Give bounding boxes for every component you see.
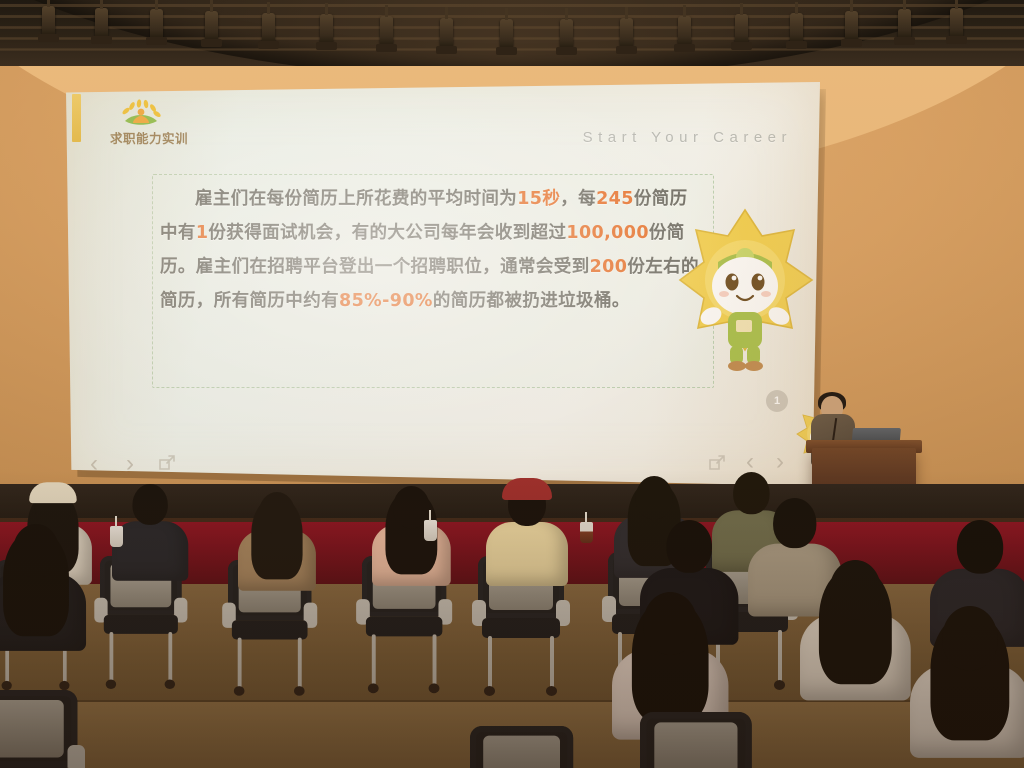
sunburst-person-icon xyxy=(117,99,165,129)
chair-seat xyxy=(232,620,308,639)
person-head xyxy=(13,524,59,578)
person-head xyxy=(636,476,673,519)
stage-light xyxy=(735,14,748,44)
person-head xyxy=(942,606,997,670)
person-head xyxy=(259,492,295,534)
person-head xyxy=(132,484,167,525)
stage-light xyxy=(620,18,633,48)
person-head xyxy=(830,560,881,619)
chair-leg xyxy=(372,634,376,687)
stage-light xyxy=(205,11,218,41)
slide-text-run: 雇主们在每份简历上所花费的平均时间为 xyxy=(195,189,517,209)
chair-foot xyxy=(59,681,69,690)
person-head xyxy=(666,520,712,573)
stage-light xyxy=(440,18,453,48)
person-head xyxy=(773,498,816,548)
drink-cup xyxy=(424,520,437,541)
slide-paragraph: 雇主们在每份简历上所花费的平均时间为15秒，每245份简历中有1份获得面试机会，… xyxy=(160,182,705,318)
chair-leg xyxy=(433,634,437,687)
slide-highlight-value: 100,000 xyxy=(566,223,649,243)
person-body xyxy=(112,521,188,581)
person-head xyxy=(643,592,697,654)
truss-rib xyxy=(0,4,1024,7)
chair-foot xyxy=(429,683,440,693)
chair-mesh xyxy=(654,722,737,768)
ceiling-truss xyxy=(0,0,1024,66)
chair-foot xyxy=(484,686,495,696)
stage-light xyxy=(150,9,163,39)
chair-foot xyxy=(2,681,12,690)
stage-light xyxy=(845,11,858,41)
chair-back xyxy=(640,712,752,768)
person-head xyxy=(957,520,1003,574)
chair-foot xyxy=(774,680,785,690)
stage-light xyxy=(560,19,573,49)
chair-mesh xyxy=(0,700,64,758)
stage-light xyxy=(500,19,513,49)
person-body xyxy=(486,522,568,586)
brand-logo: 求职能力实训 xyxy=(89,99,209,157)
brand-logo-text: 求职能力实训 xyxy=(89,128,209,147)
drink-cup xyxy=(580,522,593,543)
stage-light xyxy=(320,14,333,44)
lecture-hall-scene: 求职能力实训 Start Your Career 雇主们在每份简历上所花费的平均… xyxy=(0,0,1024,768)
chair-seat xyxy=(366,617,442,637)
sunflower-mascot-large xyxy=(670,200,820,380)
chair-leg xyxy=(238,638,242,690)
slide-body-text: 雇主们在每份简历上所花费的平均时间为15秒，每245份简历中有1份获得面试机会，… xyxy=(160,182,705,318)
chair-leg xyxy=(778,630,782,684)
chair-seat xyxy=(482,618,560,638)
slide-text-run: ，每 xyxy=(560,189,596,209)
slide-tagline: Start Your Career xyxy=(583,129,792,146)
stage-light xyxy=(262,13,275,43)
person-hat xyxy=(502,478,552,500)
chair-foot xyxy=(294,686,305,696)
slide-accent-bar xyxy=(72,94,81,142)
stage-light xyxy=(790,13,803,43)
person-hat xyxy=(29,482,76,503)
chair-arm-right xyxy=(68,745,86,768)
slide-highlight-value: 200 xyxy=(590,257,628,277)
stage-light xyxy=(95,8,108,38)
stage-light xyxy=(898,9,911,39)
person-head xyxy=(733,472,769,514)
slide-highlight-value: 1 xyxy=(196,223,209,243)
chair-leg xyxy=(110,632,114,683)
chair-foot xyxy=(546,686,557,696)
slide-text-run: 份获得面试机会，有的大公司每年会收到超过 xyxy=(208,223,566,243)
chair-foot xyxy=(234,686,245,696)
share-icon-right[interactable] xyxy=(708,454,726,477)
chair-leg xyxy=(168,632,172,683)
chair-foot xyxy=(165,680,175,690)
slide-text-run: 的简历都被扔进垃圾桶。 xyxy=(433,291,630,311)
stage-light xyxy=(380,16,393,46)
chair-leg xyxy=(550,636,554,690)
drink-cup xyxy=(110,526,123,547)
chair-mesh xyxy=(483,736,560,768)
slide-next-button-right[interactable]: › xyxy=(776,450,784,474)
chair-leg xyxy=(298,638,302,690)
stage-light xyxy=(42,6,55,36)
chair-foot xyxy=(368,683,379,693)
slide-highlight-value: 85%-90% xyxy=(339,291,433,311)
stage-light xyxy=(950,8,963,38)
chair-seat xyxy=(104,615,178,634)
screen-surface: 求职能力实训 Start Your Career 雇主们在每份简历上所花费的平均… xyxy=(60,82,820,486)
chair-foot xyxy=(106,680,116,690)
slide-highlight-value: 15秒 xyxy=(517,189,560,209)
page-number-badge[interactable]: 1 xyxy=(766,390,788,412)
chair-back xyxy=(0,690,78,768)
chair-leg xyxy=(488,636,492,690)
slide-prev-button-right[interactable]: ‹ xyxy=(746,450,754,474)
stage-light xyxy=(678,16,691,46)
chair-back xyxy=(470,726,573,768)
projection-screen: 求职能力实训 Start Your Career 雇主们在每份简历上所花费的平均… xyxy=(60,82,820,486)
slide-highlight-value: 245 xyxy=(596,189,634,209)
